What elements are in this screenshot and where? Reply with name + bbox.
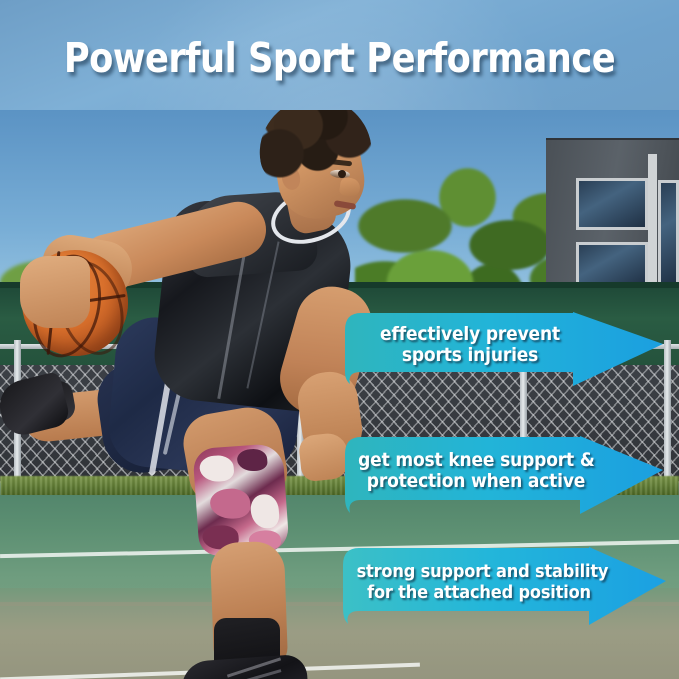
callout-knee-support: get most knee support & protection when …: [345, 434, 665, 518]
camo-patch: [237, 448, 268, 472]
product-poster: Powerful Sport Performance: [0, 0, 679, 679]
left-hand: [20, 256, 90, 328]
building-window-upper: [576, 178, 648, 230]
callout-strong-support: strong support and stability for the att…: [343, 545, 668, 629]
right-hand: [298, 432, 351, 483]
fence-post: [664, 340, 671, 490]
camo-patch: [209, 487, 251, 520]
arrow-shape-3: [343, 545, 668, 629]
building-window-side: [658, 180, 679, 288]
camo-patch: [199, 454, 235, 482]
arrow-shape-1: [345, 310, 665, 390]
page-title: Powerful Sport Performance: [48, 34, 632, 82]
callout-prevent-injuries: effectively prevent sports injuries: [345, 310, 665, 390]
camo-patch: [250, 493, 280, 529]
arrow-shape-2: [345, 434, 665, 518]
camo-knee-brace: [192, 443, 289, 557]
